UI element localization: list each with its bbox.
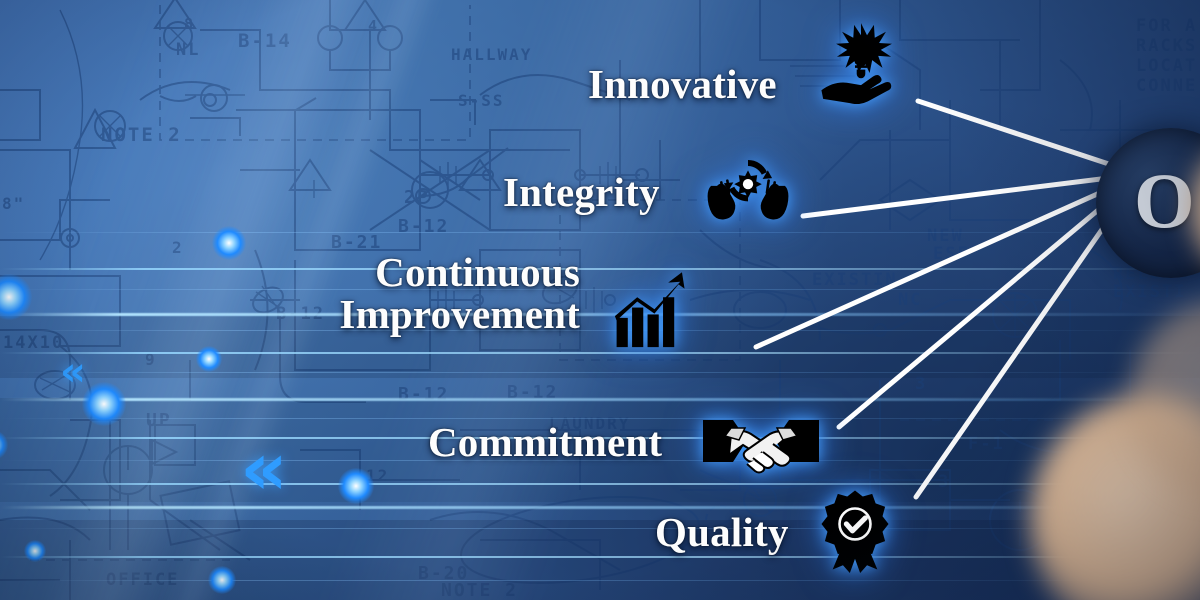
hands-gear-icon[interactable] (705, 148, 791, 234)
ray-commitment (839, 180, 1134, 427)
badge-letter: O (1134, 156, 1199, 246)
handshake-icon[interactable] (700, 412, 822, 492)
value-label-continuous[interactable]: Continuous Improvement (305, 252, 580, 336)
value-label-commitment[interactable]: Commitment (428, 422, 662, 464)
hand-lightbulb-icon[interactable] (818, 18, 904, 104)
value-label-innovative[interactable]: Innovative (588, 64, 777, 106)
ray-innovative (918, 101, 1133, 172)
value-label-integrity[interactable]: Integrity (503, 172, 660, 214)
values-graphic-canvas: NLB-14HALLWAYNOTE 28"2PB-12B-21S-SS214X1… (0, 0, 1200, 600)
growth-chart-icon[interactable] (608, 268, 694, 354)
quality-seal-icon[interactable] (812, 487, 898, 573)
ray-integrity (803, 175, 1133, 216)
value-label-quality[interactable]: Quality (655, 512, 789, 554)
